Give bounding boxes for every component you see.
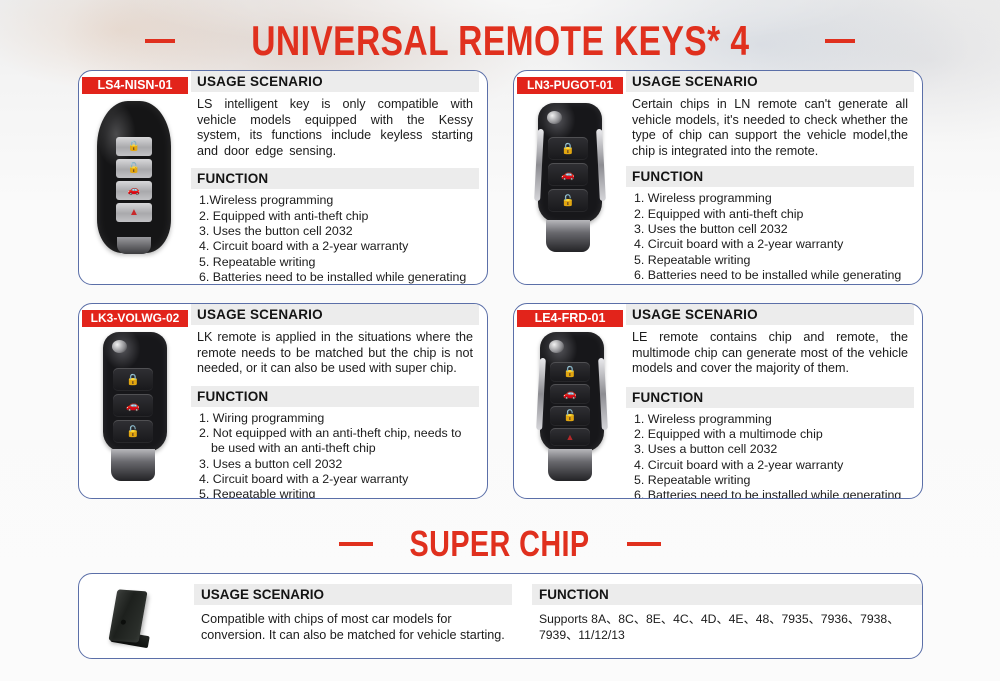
list-item: 2. Equipped with anti-theft chip <box>634 207 910 222</box>
usage-heading: USAGE SCENARIO <box>626 71 914 92</box>
chip-function-column: FUNCTION Supports 8A、8C、8E、4C、4D、4E、48、7… <box>512 584 922 658</box>
list-item: 2. Not equipped with an anti-theft chip,… <box>199 426 475 457</box>
transponder-chip-icon <box>105 588 167 646</box>
card-text-column: USAGE SCENARIO Certain chips in LN remot… <box>626 71 922 284</box>
usage-text: Certain chips in LN remote can't generat… <box>626 92 914 159</box>
chip-title-rule-left <box>339 542 373 546</box>
usage-text: LS intelligent key is only compatible wi… <box>191 92 479 159</box>
usage-heading: USAGE SCENARIO <box>194 584 512 605</box>
product-badge: LN3-PUGOT-01 <box>517 77 623 94</box>
list-item: 6. Batteries need to be installed while … <box>199 270 475 285</box>
card-image-column: LE4-FRD-01 🔒 🚗 🔓 ▲ <box>514 304 626 498</box>
list-item: 5. Repeatable writing <box>634 253 910 268</box>
list-item: 5. Repeatable writing <box>199 255 475 270</box>
peugeot-flip-key-icon: 🔒 🚗 🔓 <box>534 103 606 253</box>
list-item: 4. Circuit board with a 2-year warranty <box>634 237 910 252</box>
list-item: 6. Batteries need to be installed while … <box>634 268 910 283</box>
function-heading: FUNCTION <box>532 584 922 605</box>
product-card-lk3-volwg-02[interactable]: LK3-VOLWG-02 🔒 🚗 🔓 USAGE SCENARIO LK rem… <box>78 303 488 499</box>
chip-text-columns: USAGE SCENARIO Compatible with chips of … <box>194 574 922 658</box>
card-image-column: LK3-VOLWG-02 🔒 🚗 🔓 <box>79 304 191 498</box>
product-card-le4-frd-01[interactable]: LE4-FRD-01 🔒 🚗 🔓 ▲ USA <box>513 303 923 499</box>
list-item: 7. Supports vehicles with 11, 12, 13, 79… <box>634 283 910 285</box>
title-rule-left <box>145 39 175 43</box>
infographic-page: UNIVERSAL REMOTE KEYS* 4 LS4-NISN-01 🔒 🔓… <box>0 0 1000 681</box>
nissan-smart-key-icon: 🔒 🔓 🚗 ▲ <box>97 101 171 253</box>
product-badge: LS4-NISN-01 <box>82 77 188 94</box>
list-item: 4. Circuit board with a 2-year warranty <box>199 472 475 487</box>
main-section-title: UNIVERSAL REMOTE KEYS* 4 <box>0 18 1000 64</box>
card-text-column: USAGE SCENARIO LE remote contains chip a… <box>626 304 922 498</box>
list-item: 6. Batteries need to be installed while … <box>634 488 910 499</box>
product-badge: LE4-FRD-01 <box>517 310 623 327</box>
usage-text: Compatible with chips of most car models… <box>194 605 512 643</box>
chip-title-rule-right <box>627 542 661 546</box>
product-card-ln3-pugot-01[interactable]: LN3-PUGOT-01 🔒 🚗 🔓 USAGE SCENARIO <box>513 70 923 285</box>
card-text-column: USAGE SCENARIO LS intelligent key is onl… <box>191 71 487 284</box>
usage-heading: USAGE SCENARIO <box>626 304 914 325</box>
list-item: 4. Circuit board with a 2-year warranty <box>634 458 910 473</box>
list-item: 3. Uses a button cell 2032 <box>634 442 910 457</box>
function-list: 1. Wireless programming 2. Equipped with… <box>626 408 914 499</box>
usage-heading: USAGE SCENARIO <box>191 304 479 325</box>
function-heading: FUNCTION <box>626 166 914 187</box>
list-item: 4. Circuit board with a 2-year warranty <box>199 239 475 254</box>
function-heading: FUNCTION <box>191 168 479 189</box>
list-item: 1. Wireless programming <box>634 412 910 427</box>
list-item: 5. Repeatable writing <box>199 487 475 499</box>
list-item: 2. Equipped with a multimode chip <box>634 427 910 442</box>
usage-text: LK remote is applied in the situations w… <box>191 325 479 377</box>
title-rule-right <box>825 39 855 43</box>
list-item: 1. Wireless programming <box>634 191 910 206</box>
card-text-column: USAGE SCENARIO LK remote is applied in t… <box>191 304 487 498</box>
function-text: Supports 8A、8C、8E、4C、4D、4E、48、7935、7936、… <box>532 605 922 643</box>
volkswagen-flip-key-icon: 🔒 🚗 🔓 <box>99 332 171 482</box>
function-heading: FUNCTION <box>626 387 914 408</box>
usage-heading: USAGE SCENARIO <box>191 71 479 92</box>
list-item: 2. Equipped with anti-theft chip <box>199 209 475 224</box>
product-card-super-chip[interactable]: USAGE SCENARIO Compatible with chips of … <box>78 573 923 659</box>
card-image-column: LN3-PUGOT-01 🔒 🚗 🔓 <box>514 71 626 284</box>
list-item: 5. Repeatable writing <box>634 473 910 488</box>
product-badge: LK3-VOLWG-02 <box>82 310 188 327</box>
page-title: UNIVERSAL REMOTE KEYS* 4 <box>251 18 749 64</box>
chip-section-title: SUPER CHIP <box>0 524 1000 564</box>
usage-text: LE remote contains chip and remote, the … <box>626 325 914 377</box>
function-list: 1. Wiring programming 2. Not equipped wi… <box>191 407 479 499</box>
list-item: 3. Uses the button cell 2032 <box>634 222 910 237</box>
product-card-ls4-nisn-01[interactable]: LS4-NISN-01 🔒 🔓 🚗 ▲ USAGE S <box>78 70 488 285</box>
list-item: 3. Uses a button cell 2032 <box>199 457 475 472</box>
function-heading: FUNCTION <box>191 386 479 407</box>
list-item: 1.Wireless programming <box>199 193 475 208</box>
chip-title-text: SUPER CHIP <box>410 524 590 564</box>
list-item: 3. Uses the button cell 2032 <box>199 224 475 239</box>
chip-image-column <box>79 574 194 658</box>
chip-usage-column: USAGE SCENARIO Compatible with chips of … <box>194 584 512 658</box>
ford-flip-key-icon: 🔒 🚗 🔓 ▲ <box>536 332 608 482</box>
function-list: 1. Wireless programming 2. Equipped with… <box>626 187 914 285</box>
list-item: 1. Wiring programming <box>199 411 475 426</box>
function-list: 1.Wireless programming 2. Equipped with … <box>191 189 479 285</box>
card-image-column: LS4-NISN-01 🔒 🔓 🚗 ▲ <box>79 71 191 284</box>
